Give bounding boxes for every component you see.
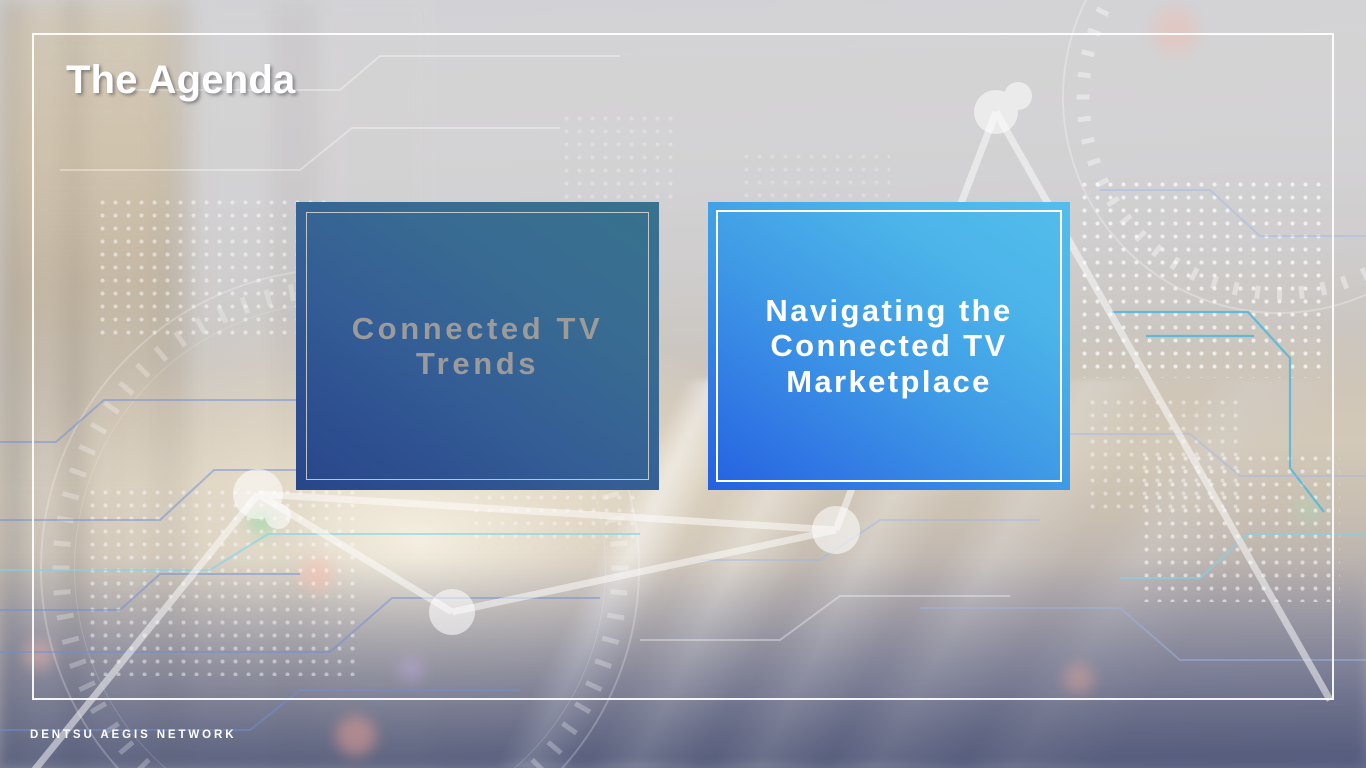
bokeh-dot — [24, 640, 54, 670]
bokeh-dot — [1152, 8, 1198, 54]
footer-brand-logo: DENTSU AEGIS NETWORK — [30, 729, 236, 741]
dotted-world-map — [1078, 178, 1324, 378]
dotted-world-map — [1140, 452, 1340, 602]
agenda-card-line: Trends — [416, 346, 539, 381]
bokeh-dot — [1064, 664, 1094, 694]
bokeh-dot — [1296, 498, 1322, 524]
agenda-card-line: Connected TV — [770, 328, 1007, 363]
agenda-card-line: Navigating the — [765, 293, 1012, 328]
presentation-slide: The Agenda Connected TV Trends Navigatin… — [0, 0, 1366, 768]
bokeh-dot — [248, 508, 276, 536]
agenda-card-navigating-the-connected-tv-marketplace[interactable]: Navigating the Connected TV Marketplace — [708, 202, 1070, 490]
bokeh-dot — [398, 656, 424, 682]
agenda-card-line: Connected TV — [352, 311, 604, 346]
circuit-trace-graphic — [0, 0, 1366, 768]
bokeh-dot — [300, 558, 334, 592]
agenda-card-connected-tv-trends[interactable]: Connected TV Trends — [296, 202, 659, 490]
radial-dial-graphic-secondary — [1062, 0, 1366, 314]
agenda-card-line: Marketplace — [786, 364, 992, 399]
dotted-world-map — [96, 196, 326, 336]
dotted-world-map — [86, 486, 356, 676]
agenda-card-label: Navigating the Connected TV Marketplace — [749, 293, 1028, 399]
background-base — [0, 0, 1366, 768]
background-light-streaks — [0, 380, 1366, 768]
dotted-world-map — [560, 112, 680, 208]
dotted-world-map — [740, 150, 890, 210]
dial-ticks — [1076, 0, 1366, 300]
network-node-graphic — [0, 0, 1366, 768]
agenda-card-label: Connected TV Trends — [336, 311, 620, 382]
dotted-world-map — [1086, 396, 1246, 516]
page-title: The Agenda — [66, 58, 295, 103]
bokeh-dot — [336, 716, 376, 756]
background-light-burst — [0, 0, 1366, 768]
slide-frame-border — [32, 33, 1334, 700]
